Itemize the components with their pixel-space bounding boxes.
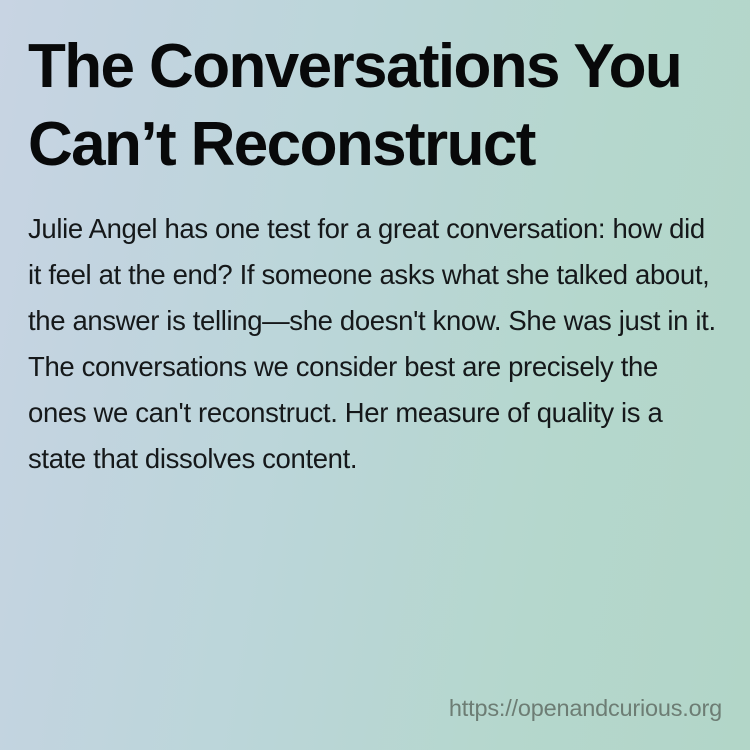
quote-content: The Conversations You Can’t Reconstruct … [28, 28, 722, 482]
quote-body-text: Julie Angel has one test for a great con… [28, 206, 720, 482]
quote-card: The Conversations You Can’t Reconstruct … [0, 0, 750, 750]
source-url-label: https://openandcurious.org [449, 694, 722, 722]
card-footer: https://openandcurious.org [28, 694, 722, 722]
page-title: The Conversations You Can’t Reconstruct [28, 28, 718, 184]
